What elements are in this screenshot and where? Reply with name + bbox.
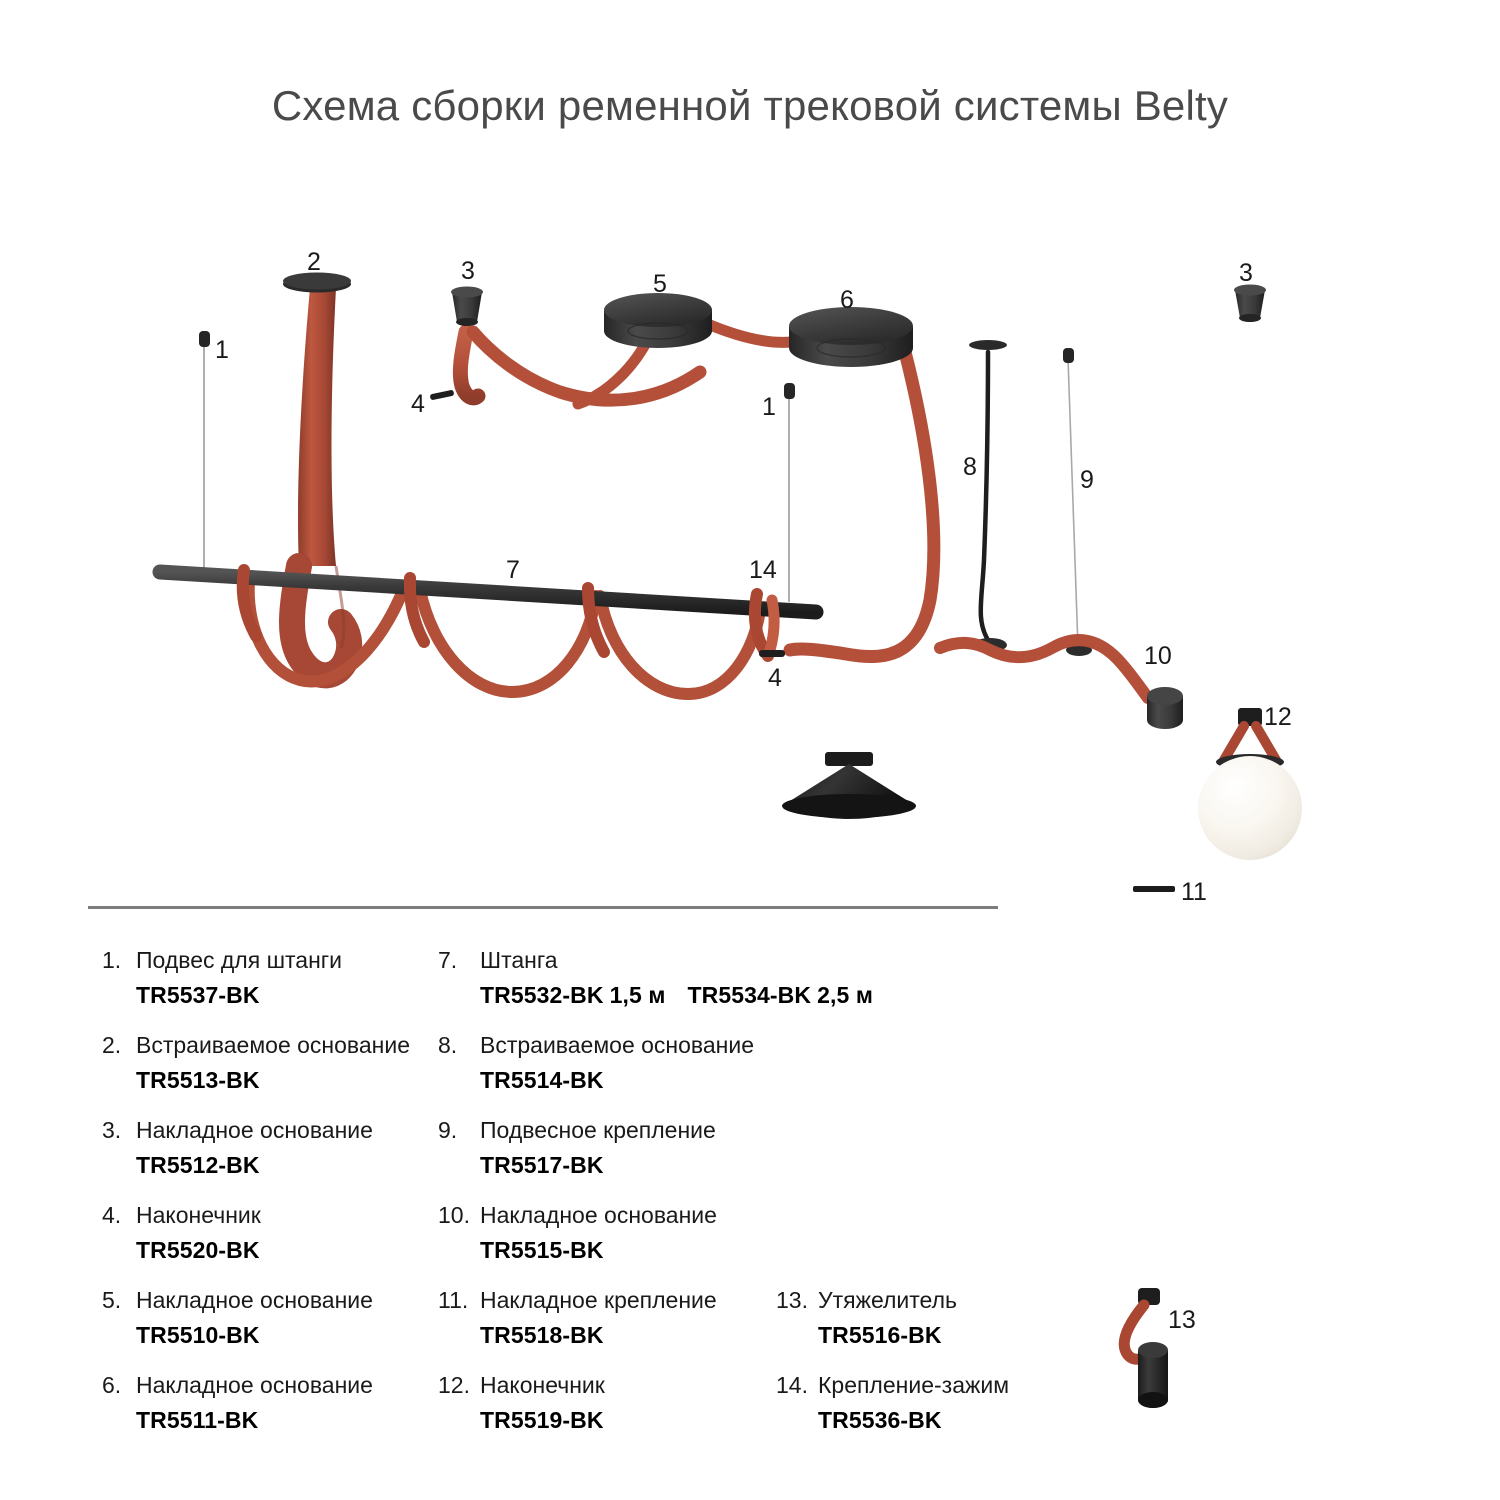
legend-item: 14.Крепление-зажимTR5536-BK xyxy=(776,1373,1156,1434)
legend-item-title: 6.Накладное основание xyxy=(102,1373,452,1398)
callout-12-c12: 12 xyxy=(1264,705,1292,730)
legend-item-number: 12. xyxy=(438,1373,480,1398)
legend-item-number: 13. xyxy=(776,1288,818,1313)
legend-item-number: 6. xyxy=(102,1373,136,1398)
legend-item-title: 14.Крепление-зажим xyxy=(776,1373,1156,1398)
callout-1-c1b: 1 xyxy=(762,395,776,420)
legend-item: 6.Накладное основаниеTR5511-BK xyxy=(102,1373,452,1434)
legend-item-name: Утяжелитель xyxy=(818,1288,957,1313)
callout-6-c6: 6 xyxy=(840,288,854,313)
legend-item-code: TR5513-BK xyxy=(136,1067,452,1094)
legend-item-code-primary: TR5516-BK xyxy=(818,1322,942,1348)
legend-item-number: 7. xyxy=(438,948,480,973)
part-4-end-cap-rod xyxy=(759,650,785,657)
legend-item-name: Подвесное крепление xyxy=(480,1118,716,1143)
legend-item: 8.Встраиваемое основаниеTR5514-BK xyxy=(438,1033,858,1094)
legend-item-code: TR5536-BK xyxy=(818,1407,1156,1434)
legend-item-title: 3.Накладное основание xyxy=(102,1118,452,1143)
section-divider xyxy=(88,906,998,909)
legend-item-name: Накладное крепление xyxy=(480,1288,717,1313)
part-11-surface-clip xyxy=(1133,886,1175,892)
callout-11-c11: 11 xyxy=(1181,880,1207,905)
legend-item-code-primary: TR5512-BK xyxy=(136,1152,260,1178)
legend-item-name: Подвес для штанги xyxy=(136,948,342,973)
legend-item-code-primary: TR5515-BK xyxy=(480,1237,604,1263)
legend-item-title: 13.Утяжелитель xyxy=(776,1288,1156,1313)
legend-item-code: TR5515-BK xyxy=(480,1237,858,1264)
legend-item-number: 1. xyxy=(102,948,136,973)
legend-item: 3.Накладное основаниеTR5512-BK xyxy=(102,1118,452,1179)
legend-item-number: 5. xyxy=(102,1288,136,1313)
legend-item-number: 4. xyxy=(102,1203,136,1228)
legend-item-title: 10.Накладное основание xyxy=(438,1203,858,1228)
legend-item-code-primary: TR5513-BK xyxy=(136,1067,260,1093)
cone-pendant-lamp xyxy=(782,752,916,819)
legend-item: 5.Накладное основаниеTR5510-BK xyxy=(102,1288,452,1349)
legend-item-code-primary: TR5511-BK xyxy=(136,1407,258,1433)
legend-item-code-primary: TR5536-BK xyxy=(818,1407,942,1433)
legend-item-code-primary: TR5537-BK xyxy=(136,982,260,1008)
legend-item-length-primary: 1,5 м xyxy=(610,982,666,1008)
legend-item-title: 7.Штанга xyxy=(438,948,858,973)
legend-item: 2.Встраиваемое основаниеTR5513-BK xyxy=(102,1033,452,1094)
part-9-pendant-suspension xyxy=(1063,348,1092,656)
callout-1-c1a: 1 xyxy=(215,338,229,363)
callout-10-c10: 10 xyxy=(1144,644,1172,669)
part-7-track-rod xyxy=(160,570,816,694)
callout-4-c4a: 4 xyxy=(411,392,425,417)
legend-item-name: Накладное основание xyxy=(480,1203,717,1228)
legend-item-code: TR5511-BK xyxy=(136,1407,452,1434)
legend-item-code-primary: TR5520-BK xyxy=(136,1237,260,1263)
legend-item-code-primary: TR5514-BK xyxy=(480,1067,604,1093)
part-3-surface-base-right xyxy=(1234,285,1266,717)
strap-run-to-surface-base-10 xyxy=(940,640,1148,698)
legend-item-number: 10. xyxy=(438,1203,480,1228)
part-6-surface-base-large xyxy=(789,307,934,760)
legend-item-title: 8.Встраиваемое основание xyxy=(438,1033,858,1058)
legend-item: 13.УтяжелительTR5516-BK xyxy=(776,1288,1156,1349)
callout-8-c8: 8 xyxy=(963,455,977,480)
assembly-diagram: 1234561714489101113312 xyxy=(0,0,1500,920)
legend-item-name: Штанга xyxy=(480,948,558,973)
legend-item-name: Наконечник xyxy=(136,1203,261,1228)
callout-7-c7: 7 xyxy=(506,558,520,583)
part-4-end-cap-left xyxy=(430,390,455,401)
callout-5-c5: 5 xyxy=(653,272,667,297)
legend-item-name: Крепление-зажим xyxy=(818,1373,1009,1398)
legend-item-title: 4.Наконечник xyxy=(102,1203,452,1228)
legend-item-code: TR5514-BK xyxy=(480,1067,858,1094)
legend-item-name: Наконечник xyxy=(480,1373,605,1398)
legend-item-title: 5.Накладное основание xyxy=(102,1288,452,1313)
callout-9-c9: 9 xyxy=(1080,468,1094,493)
legend-item-code: TR5516-BK xyxy=(818,1322,1156,1349)
legend-item-number: 14. xyxy=(776,1373,818,1398)
legend-item-code-primary: TR5517-BK xyxy=(480,1152,604,1178)
part-1-rod-suspension-center xyxy=(784,383,795,602)
legend-item-code: TR5520-BK xyxy=(136,1237,452,1264)
legend-item-title: 2.Встраиваемое основание xyxy=(102,1033,452,1058)
legend-item-length-secondary: 2,5 м xyxy=(817,982,873,1008)
legend-item-name: Накладное основание xyxy=(136,1373,373,1398)
legend-item-code: TR5510-BK xyxy=(136,1322,452,1349)
legend-item: 4.НаконечникTR5520-BK xyxy=(102,1203,452,1264)
callout-2-c2: 2 xyxy=(307,250,321,275)
legend-item-code-primary: TR5518-BK xyxy=(480,1322,604,1348)
part-2-recessed-base xyxy=(283,273,351,676)
legend-item-number: 11. xyxy=(438,1288,480,1313)
legend-item: 1.Подвес для штангиTR5537-BK xyxy=(102,948,452,1009)
legend-item-number: 8. xyxy=(438,1033,480,1058)
legend-item-code: TR5512-BK xyxy=(136,1152,452,1179)
legend-item-code: TR5517-BK xyxy=(480,1152,858,1179)
diagram-page: Схема сборки ременной трековой системы B… xyxy=(0,0,1500,1500)
legend-item-code-primary: TR5519-BK xyxy=(480,1407,604,1433)
parts-legend: 1.Подвес для штангиTR5537-BK2.Встраиваем… xyxy=(88,948,1418,1408)
legend-item: 10.Накладное основаниеTR5515-BK xyxy=(438,1203,858,1264)
legend-item-name: Накладное основание xyxy=(136,1118,373,1143)
part-1-rod-suspension-left xyxy=(199,331,210,578)
legend-item-code-primary: TR5532-BK xyxy=(480,982,604,1008)
callout-4-c4b: 4 xyxy=(768,666,782,691)
legend-item-number: 2. xyxy=(102,1033,136,1058)
legend-item-number: 3. xyxy=(102,1118,136,1143)
legend-item-title: 1.Подвес для штанги xyxy=(102,948,452,973)
part-8-recessed-base-cable xyxy=(969,340,1007,652)
legend-item-code-primary: TR5510-BK xyxy=(136,1322,260,1348)
legend-item-title: 9.Подвесное крепление xyxy=(438,1118,858,1143)
legend-item-code: TR5537-BK xyxy=(136,982,452,1009)
legend-item-name: Накладное основание xyxy=(136,1288,373,1313)
legend-item-name: Встраиваемое основание xyxy=(480,1033,754,1058)
callout-3-c3b: 3 xyxy=(1239,261,1253,286)
legend-item: 9.Подвесное креплениеTR5517-BK xyxy=(438,1118,858,1179)
legend-item-code: TR5532-BK1,5 мTR5534-BK2,5 м xyxy=(480,982,858,1009)
legend-item-code-secondary: TR5534-BK xyxy=(688,982,812,1008)
legend-item-name: Встраиваемое основание xyxy=(136,1033,410,1058)
legend-item: 7.ШтангаTR5532-BK1,5 мTR5534-BK2,5 м xyxy=(438,948,858,1009)
legend-item-number: 9. xyxy=(438,1118,480,1143)
callout-14-c14: 14 xyxy=(749,558,777,583)
callout-3-c3a: 3 xyxy=(461,259,475,284)
